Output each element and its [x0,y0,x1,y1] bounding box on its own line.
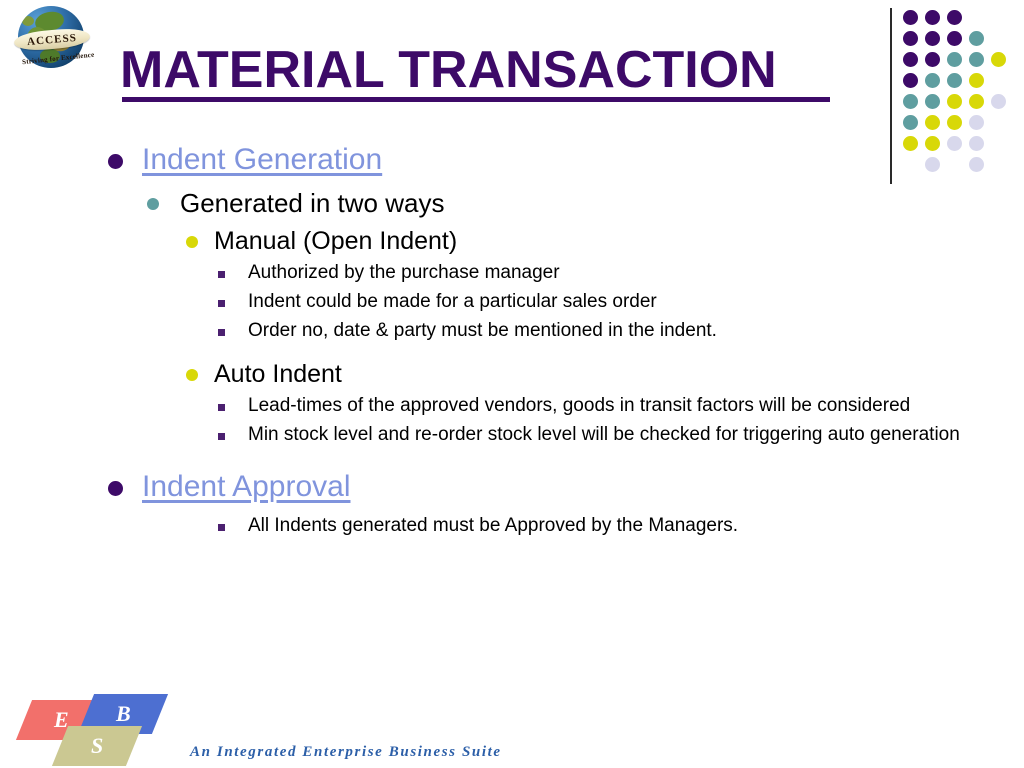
decor-dot-teal [925,73,940,88]
section-heading-label: Indent Generation [142,143,382,176]
decor-dot-purple [925,52,940,67]
list-item-label: Lead-times of the approved vendors, good… [248,393,978,419]
subheading-label: Generated in two ways [180,188,444,218]
slide-body: Indent Generation Generated in two ways … [0,142,1024,542]
bullet-level3-icon [186,369,198,381]
subheading-generated-in-two-ways: Generated in two ways [0,186,1024,220]
list-item: Authorized by the purchase manager [0,260,1024,286]
bullet-level4-icon [218,300,225,307]
group-label-manual-open-indent: Manual (Open Indent) [0,224,1024,258]
decor-dot-yellow [969,73,984,88]
bullet-level4-icon [218,433,225,440]
decor-dot-purple [925,31,940,46]
decor-dot-teal [947,73,962,88]
section-heading-indent-generation[interactable]: Indent Generation [0,142,1024,180]
list-item: All Indents generated must be Approved b… [0,513,1024,539]
decor-dot-teal [903,94,918,109]
bullet-level4-icon [218,329,225,336]
bullet-level4-icon [218,524,225,531]
list-item: Lead-times of the approved vendors, good… [0,393,1024,419]
decor-dot-lavender [991,94,1006,109]
bullet-level2-icon [147,198,159,210]
group-label: Auto Indent [214,360,342,388]
list-item-label: All Indents generated must be Approved b… [248,513,978,539]
footer-tagline: An Integrated Enterprise Business Suite [190,744,502,761]
decor-dot-yellow [947,94,962,109]
group-label-auto-indent: Auto Indent [0,357,1024,391]
decor-dot-lavender [969,115,984,130]
bullet-level1-icon [108,481,123,496]
list-item-label: Indent could be made for a particular sa… [248,289,978,315]
decor-dot-purple [903,10,918,25]
decor-dot-teal [969,52,984,67]
globe-graphic: ACCESS Striving for Excellence [14,4,90,70]
bullet-level3-icon [186,236,198,248]
bullet-level4-icon [218,404,225,411]
list-item-label: Authorized by the purchase manager [248,260,978,286]
decor-dot-purple [947,31,962,46]
decor-dot-purple [903,31,918,46]
page-title: MATERIAL TRANSACTION [120,44,832,96]
access-globe-logo: ACCESS Striving for Excellence [2,0,102,72]
decor-dot-teal [903,115,918,130]
list-item: Order no, date & party must be mentioned… [0,318,1024,344]
ebs-logo: E B S [22,692,172,764]
decor-dot-purple [903,52,918,67]
section-heading-indent-approval[interactable]: Indent Approval [0,469,1024,507]
list-item-label: Min stock level and re-order stock level… [248,422,978,448]
decor-dot-teal [969,31,984,46]
decor-dot-purple [947,10,962,25]
list-item: Indent could be made for a particular sa… [0,289,1024,315]
decor-dot-teal [947,52,962,67]
group-label: Manual (Open Indent) [214,227,457,255]
bullet-level1-icon [108,154,123,169]
ebs-letter-s: S [52,726,142,766]
decor-dot-yellow [947,115,962,130]
list-item-label: Order no, date & party must be mentioned… [248,318,978,344]
bullet-level4-icon [218,271,225,278]
decor-dot-yellow [969,94,984,109]
ebs-letter-s-label: S [91,733,103,759]
title-underline [122,97,830,102]
decor-dot-purple [903,73,918,88]
decor-dot-teal [925,94,940,109]
ebs-letter-b-label: B [116,701,131,727]
list-item: Min stock level and re-order stock level… [0,422,1024,448]
decor-dot-yellow [925,115,940,130]
presentation-slide: ACCESS Striving for Excellence MATERIAL … [0,0,1024,768]
decor-dot-yellow [991,52,1006,67]
decor-dot-purple [925,10,940,25]
section-heading-label: Indent Approval [142,470,351,503]
